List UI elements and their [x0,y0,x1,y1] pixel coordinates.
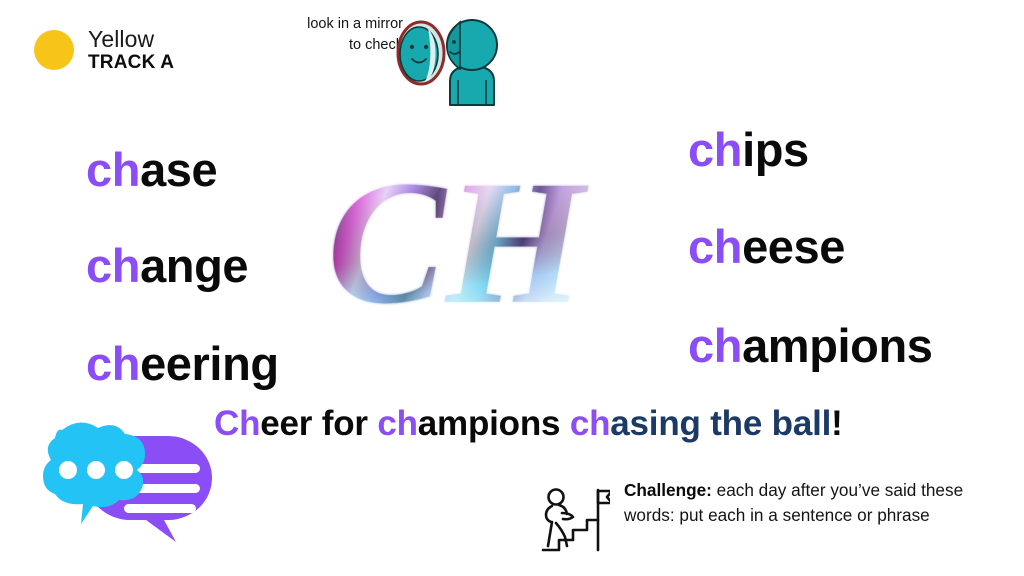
digraph-highlight: ch [86,239,140,292]
sentence-seg-6: ! [831,404,842,443]
digraph-highlight: ch [86,143,140,196]
mirror-hint-line-2: to check [283,35,403,56]
track-color-name: Yellow [88,28,174,51]
word-remainder: eering [140,337,279,390]
digraph-highlight: ch [688,123,742,176]
word-chase: chase [86,146,217,193]
sentence-seg-1: eer for [260,404,377,443]
digraph-highlight: ch [86,337,140,390]
track-label: TRACK A [88,53,174,72]
sentence-seg-2: ch [377,404,417,443]
person-climbing-stairs-to-flag-icon [540,480,610,554]
person-with-mirror-icon [390,8,505,106]
word-change: change [86,242,248,289]
word-champions: champions [688,322,933,369]
word-remainder: ange [140,239,248,292]
digraph-highlight: ch [688,220,742,273]
sentence-seg-3: ampions [418,404,570,443]
challenge-block: Challenge: each day after you’ve said th… [540,476,1010,554]
word-remainder: eese [742,220,845,273]
chrome-ch-letters-graphic: CH CH [325,160,655,335]
track-badge: Yellow TRACK A [34,28,174,73]
word-cheering: cheering [86,340,279,387]
challenge-title: Challenge: [624,480,712,500]
word-cheese: cheese [688,223,845,270]
challenge-text: Challenge: each day after you’ve said th… [624,476,1010,528]
word-chips: chips [688,126,809,173]
sentence-seg-4: ch [570,404,610,443]
yellow-circle-icon [34,30,74,70]
track-text-group: Yellow TRACK A [88,28,174,73]
word-remainder: ampions [742,319,932,372]
word-remainder: ips [742,123,809,176]
digraph-highlight: ch [688,319,742,372]
slide-canvas: Yellow TRACK A look in a mirror to check… [0,0,1024,576]
sentence-seg-5: asing the ball [610,404,831,443]
svg-text:CH: CH [327,160,589,335]
mirror-hint-line-1: look in a mirror [283,14,403,35]
mirror-hint-text: look in a mirror to check [283,14,403,56]
word-remainder: ase [140,143,217,196]
speech-bubbles-icon [18,414,223,564]
practice-sentence: Cheer for champions chasing the ball! [214,406,843,441]
